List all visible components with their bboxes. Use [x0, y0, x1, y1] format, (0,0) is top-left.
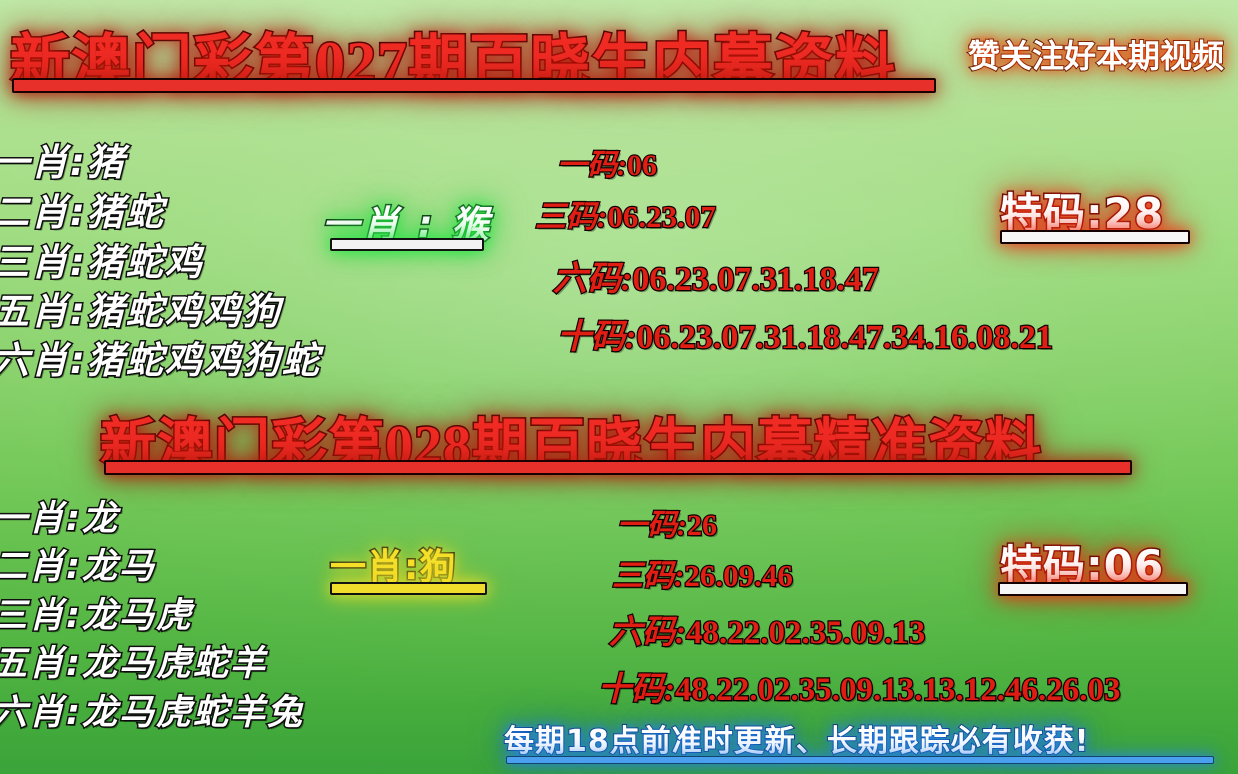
section2-code-label-4: 十码: [598, 672, 675, 708]
section2-code-value-3: 48.22.02.35.09.13 [686, 615, 925, 651]
section2-code-row-2: 三码:26.09.46 [612, 550, 793, 595]
section2-zodiac-row-2: 二肖:龙马 [0, 538, 156, 589]
poster-canvas: 新澳门彩第027期百晓生内幕资料 赞关注好本期视频 一肖:猪 二肖:猪蛇 三肖:… [0, 0, 1238, 774]
section2-code-label-1: 一码: [617, 509, 687, 542]
section1-code-label-1: 一码: [557, 149, 627, 182]
section2-title-underline [104, 460, 1132, 475]
section1-code-label-2: 三码: [535, 199, 607, 234]
section2-code-value-4: 48.22.02.35.09.13.13.12.46.26.03 [675, 672, 1121, 708]
section1-zodiac-row-2: 二肖:猪蛇 [0, 182, 165, 236]
section2-code-row-4: 十码:48.22.02.35.09.13.13.12.46.26.03 [598, 662, 1121, 710]
section2-special-underline [998, 582, 1188, 596]
section2-highlight-underline [330, 582, 487, 595]
section1-special-underline [1000, 230, 1190, 244]
section2-zodiac-row-4: 五肖:龙马虎蛇羊 [0, 635, 267, 686]
section1-zodiac-row-4: 五肖:猪蛇鸡鸡狗 [0, 281, 282, 335]
section1-title-underline [12, 78, 936, 93]
section1-code-label-4: 十码: [557, 319, 636, 356]
promo-text: 赞关注好本期视频 [968, 31, 1224, 77]
section1-zodiac-row-1: 一肖:猪 [0, 132, 126, 186]
section2-zodiac-row-5: 六肖:龙马虎蛇羊兔 [0, 684, 304, 735]
footer-banner-underline [506, 756, 1214, 764]
section1-zodiac-row-5: 六肖:猪蛇鸡鸡狗蛇 [0, 330, 321, 384]
section1-code-label-3: 六码: [553, 261, 632, 298]
section2-code-label-2: 三码: [612, 558, 684, 593]
section2-code-value-2: 26.09.46 [684, 558, 793, 593]
section2-code-value-1: 26 [687, 509, 717, 542]
section1-code-value-4: 06.23.07.31.18.47.34.16.08.21 [636, 319, 1053, 356]
section1-code-row-4: 十码:06.23.07.31.18.47.34.16.08.21 [557, 309, 1053, 358]
section1-highlight-underline [330, 238, 484, 251]
section2-code-row-1: 一码:26 [617, 500, 717, 544]
section1-code-row-1: 一码:06 [557, 140, 657, 184]
section2-zodiac-row-1: 一肖:龙 [0, 490, 119, 541]
section1-zodiac-row-3: 三肖:猪蛇鸡 [0, 232, 204, 286]
section1-code-row-3: 六码:06.23.07.31.18.47 [553, 251, 879, 300]
section1-code-value-2: 06.23.07 [607, 199, 716, 234]
section1-code-value-1: 06 [627, 149, 657, 182]
section1-code-row-2: 三码:06.23.07 [535, 191, 716, 236]
section2-zodiac-row-3: 三肖:龙马虎 [0, 587, 193, 638]
section2-code-label-3: 六码: [609, 615, 686, 651]
section2-code-row-3: 六码:48.22.02.35.09.13 [609, 605, 925, 653]
footer-banner-text: 每期18点前准时更新、长期跟踪必有收获! [504, 716, 1089, 760]
section1-code-value-3: 06.23.07.31.18.47 [632, 261, 879, 298]
